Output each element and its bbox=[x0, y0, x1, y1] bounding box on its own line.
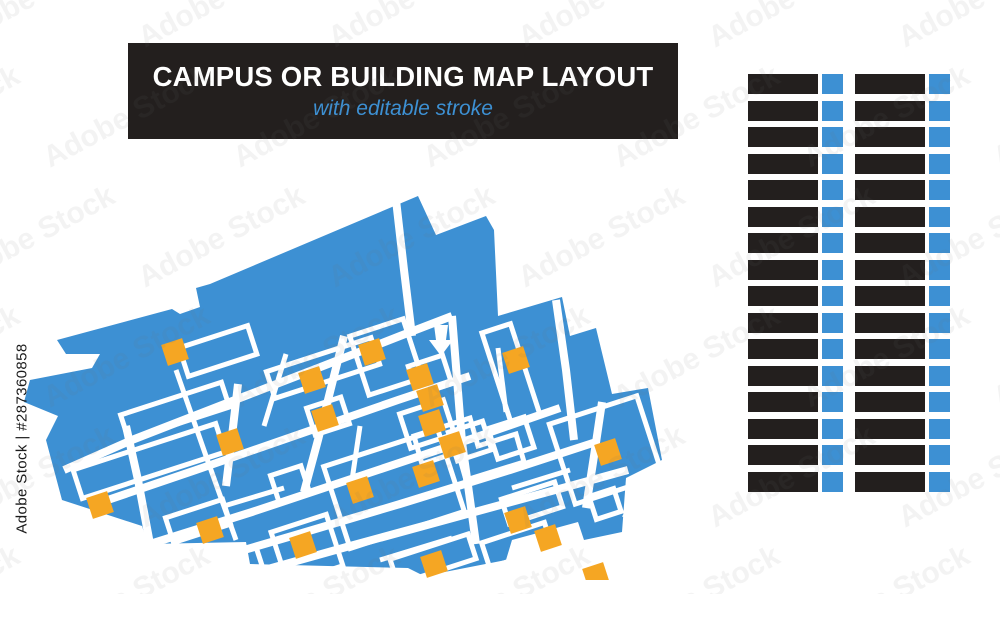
legend-bars bbox=[748, 74, 960, 498]
legend-bar-dark bbox=[855, 233, 925, 253]
legend-bar-accent bbox=[822, 233, 843, 253]
legend-bar-accent bbox=[822, 339, 843, 359]
legend-bar-dark bbox=[855, 260, 925, 280]
legend-bar-dark bbox=[748, 472, 818, 492]
legend-bar-dark bbox=[855, 154, 925, 174]
legend-row-left bbox=[748, 445, 843, 465]
watermark-text: Adobe Stock bbox=[0, 0, 121, 55]
legend-row-left bbox=[748, 180, 843, 200]
legend-row-right bbox=[855, 127, 950, 147]
legend-bar-accent bbox=[822, 419, 843, 439]
legend-bar-accent bbox=[822, 472, 843, 492]
legend-row-left bbox=[748, 339, 843, 359]
page-title: CAMPUS OR BUILDING MAP LAYOUT bbox=[153, 62, 654, 92]
legend-bar-dark bbox=[748, 419, 818, 439]
legend-bar-accent bbox=[929, 101, 950, 121]
legend-bar-dark bbox=[855, 286, 925, 306]
legend-bar-dark bbox=[855, 101, 925, 121]
legend-row-right bbox=[855, 154, 950, 174]
legend-bar-accent bbox=[822, 180, 843, 200]
legend-bar-dark bbox=[855, 445, 925, 465]
legend-row-left bbox=[748, 127, 843, 147]
legend-row-right bbox=[855, 472, 950, 492]
legend-row-right bbox=[855, 233, 950, 253]
legend-row-right bbox=[855, 445, 950, 465]
legend-row-right bbox=[855, 313, 950, 333]
legend-row-left bbox=[748, 101, 843, 121]
legend-bar-dark bbox=[748, 286, 818, 306]
legend-row-left bbox=[748, 74, 843, 94]
legend-column-right bbox=[855, 74, 950, 498]
legend-row-right bbox=[855, 74, 950, 94]
legend-bar-accent bbox=[929, 207, 950, 227]
legend-row-right bbox=[855, 419, 950, 439]
legend-row-left bbox=[748, 419, 843, 439]
legend-bar-accent bbox=[822, 207, 843, 227]
legend-column-left bbox=[748, 74, 843, 498]
legend-row-right bbox=[855, 101, 950, 121]
legend-row-right bbox=[855, 180, 950, 200]
legend-bar-accent bbox=[929, 392, 950, 412]
legend-bar-dark bbox=[748, 207, 818, 227]
legend-bar-accent bbox=[929, 472, 950, 492]
legend-bar-accent bbox=[822, 74, 843, 94]
legend-bar-dark bbox=[748, 392, 818, 412]
legend-bar-dark bbox=[855, 472, 925, 492]
legend-bar-dark bbox=[748, 101, 818, 121]
legend-bar-accent bbox=[822, 286, 843, 306]
legend-bar-dark bbox=[748, 366, 818, 386]
legend-bar-accent bbox=[822, 101, 843, 121]
legend-bar-dark bbox=[748, 313, 818, 333]
legend-bar-dark bbox=[855, 127, 925, 147]
legend-row-left bbox=[748, 313, 843, 333]
watermark-text: Adobe Stock bbox=[703, 0, 881, 55]
legend-bar-accent bbox=[822, 445, 843, 465]
watermark-text: Adobe Stock bbox=[988, 539, 1000, 594]
legend-bar-dark bbox=[855, 392, 925, 412]
legend-bar-dark bbox=[855, 339, 925, 359]
legend-bar-dark bbox=[748, 74, 818, 94]
page-subtitle: with editable stroke bbox=[313, 97, 493, 120]
legend-bar-dark bbox=[748, 180, 818, 200]
legend-bar-accent bbox=[929, 233, 950, 253]
legend-bar-accent bbox=[929, 419, 950, 439]
legend-bar-dark bbox=[855, 74, 925, 94]
legend-bar-accent bbox=[929, 74, 950, 94]
legend-bar-dark bbox=[748, 339, 818, 359]
legend-bar-accent bbox=[822, 313, 843, 333]
watermark-text: Adobe Stock bbox=[988, 299, 1000, 415]
title-banner: CAMPUS OR BUILDING MAP LAYOUT with edita… bbox=[128, 43, 678, 139]
legend-row-left bbox=[748, 154, 843, 174]
legend-bar-dark bbox=[748, 260, 818, 280]
watermark-text: Adobe Stock bbox=[893, 0, 1000, 55]
legend-bar-dark bbox=[748, 154, 818, 174]
legend-bar-accent bbox=[929, 366, 950, 386]
legend-bar-dark bbox=[855, 313, 925, 333]
legend-row-left bbox=[748, 260, 843, 280]
legend-row-left bbox=[748, 366, 843, 386]
legend-row-left bbox=[748, 233, 843, 253]
legend-bar-accent bbox=[929, 180, 950, 200]
legend-bar-accent bbox=[929, 445, 950, 465]
legend-bar-dark bbox=[855, 207, 925, 227]
legend-row-right bbox=[855, 339, 950, 359]
legend-bar-accent bbox=[929, 260, 950, 280]
legend-bar-accent bbox=[929, 286, 950, 306]
legend-bar-accent bbox=[822, 260, 843, 280]
legend-bar-dark bbox=[855, 180, 925, 200]
legend-bar-accent bbox=[822, 154, 843, 174]
legend-bar-accent bbox=[929, 154, 950, 174]
legend-row-right bbox=[855, 286, 950, 306]
legend-row-right bbox=[855, 260, 950, 280]
legend-bar-accent bbox=[822, 366, 843, 386]
legend-bar-accent bbox=[822, 127, 843, 147]
legend-bar-accent bbox=[822, 392, 843, 412]
legend-row-left bbox=[748, 392, 843, 412]
legend-bar-dark bbox=[748, 445, 818, 465]
watermark-text: Adobe Stock bbox=[798, 539, 976, 594]
legend-row-right bbox=[855, 366, 950, 386]
legend-bar-dark bbox=[855, 366, 925, 386]
campus-map bbox=[0, 140, 720, 580]
legend-row-left bbox=[748, 472, 843, 492]
legend-bar-accent bbox=[929, 313, 950, 333]
legend-row-left bbox=[748, 286, 843, 306]
legend-bar-dark bbox=[748, 127, 818, 147]
legend-bar-accent bbox=[929, 339, 950, 359]
legend-row-right bbox=[855, 207, 950, 227]
legend-bar-dark bbox=[855, 419, 925, 439]
legend-bar-accent bbox=[929, 127, 950, 147]
legend-row-left bbox=[748, 207, 843, 227]
legend-row-right bbox=[855, 392, 950, 412]
watermark-text: Adobe Stock bbox=[988, 59, 1000, 175]
legend-bar-dark bbox=[748, 233, 818, 253]
